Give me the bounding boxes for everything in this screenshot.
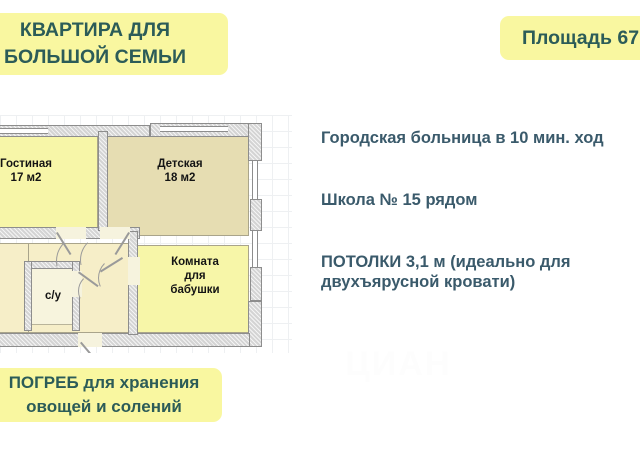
- room-label-living: Гостиная 17 м2: [0, 157, 88, 185]
- wall-right-bottom: [248, 301, 262, 347]
- window-children-right: [252, 161, 258, 199]
- room-label-kitchen: ня: [0, 271, 20, 285]
- cellar-banner: ПОГРЕБ для хранения овощей и солений: [0, 368, 222, 422]
- wall-right-upper: [248, 123, 262, 161]
- feature-school: Школа № 15 рядом: [321, 190, 477, 210]
- window-living-top: [0, 128, 48, 134]
- title-line-2: БОЛЬШОЙ СЕМЬИ: [0, 44, 214, 71]
- title-line-1: КВАРТИРА ДЛЯ: [0, 17, 214, 44]
- window-grandma-right: [252, 231, 258, 267]
- window-children-top: [160, 126, 228, 132]
- room-label-children: Детская 18 м2: [120, 157, 240, 185]
- cellar-line-1: ПОГРЕБ для хранения: [0, 371, 212, 395]
- wall-bottom: [0, 333, 250, 347]
- wall-partition-living-children: [98, 131, 108, 231]
- area-line-1: Площадь 67: [522, 25, 640, 51]
- apartment-title-banner: КВАРТИРА ДЛЯ БОЛЬШОЙ СЕМЬИ: [0, 13, 228, 75]
- floor-plan: Гостиная 17 м2 Детская 18 м2 Комната для…: [0, 115, 292, 353]
- cian-watermark: ЦИАН: [345, 345, 451, 384]
- wall-right-mid: [250, 199, 262, 231]
- feature-hospital: Городская больница в 10 мин. ход: [321, 128, 604, 148]
- room-label-bathroom: с/у: [30, 289, 76, 303]
- floor-plan-advertisement: ЦИАН: [0, 0, 640, 450]
- room-children: [106, 135, 249, 236]
- feature-ceilings: ПОТОЛКИ 3,1 м (идеально для двухъярусной…: [321, 252, 640, 292]
- cellar-line-2: овощей и солений: [0, 395, 212, 419]
- room-label-grandmother: Комната для бабушки: [148, 255, 242, 297]
- wall-right-lower: [250, 267, 262, 301]
- area-banner: Площадь 67: [500, 16, 640, 60]
